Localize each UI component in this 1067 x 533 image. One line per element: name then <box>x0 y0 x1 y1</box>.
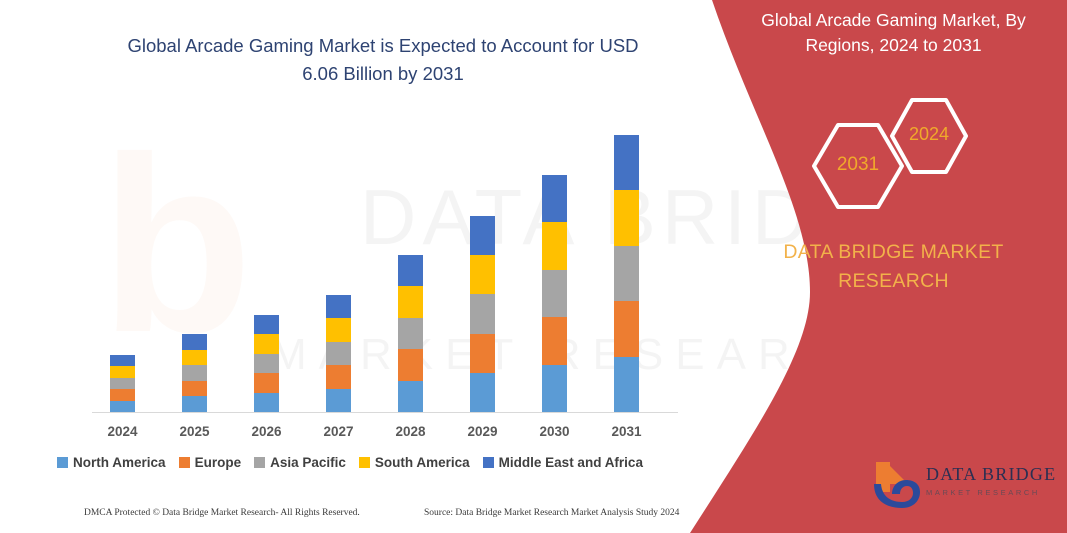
bar-segment <box>542 365 567 412</box>
bar-column <box>398 0 423 412</box>
chart-plot-area: 20242025202620272028202920302031 North A… <box>0 0 700 460</box>
legend-swatch <box>179 457 190 468</box>
legend-item[interactable]: South America <box>359 455 470 470</box>
x-axis-labels: 20242025202620272028202920302031 <box>0 424 700 446</box>
bar-group <box>0 0 700 412</box>
bar-segment <box>614 190 639 245</box>
bar-segment <box>542 175 567 222</box>
footer-source: Source: Data Bridge Market Research Mark… <box>424 508 679 518</box>
legend-label: Europe <box>195 455 242 470</box>
bar-segment <box>470 294 495 333</box>
footer-copyright: DMCA Protected © Data Bridge Market Rese… <box>84 508 360 518</box>
bar-segment <box>614 246 639 301</box>
x-axis-label: 2031 <box>597 424 657 439</box>
legend-item[interactable]: Asia Pacific <box>254 455 346 470</box>
bar-column <box>470 0 495 412</box>
bar-segment <box>182 334 207 350</box>
x-axis-label: 2027 <box>309 424 369 439</box>
bar-segment <box>254 354 279 373</box>
legend-swatch <box>359 457 370 468</box>
legend-label: South America <box>375 455 470 470</box>
bar-segment <box>254 393 279 412</box>
bar-segment <box>326 365 351 388</box>
bar-segment <box>614 301 639 356</box>
bar-segment <box>110 378 135 389</box>
bar-column <box>614 0 639 412</box>
x-axis-label: 2030 <box>525 424 585 439</box>
bar-segment <box>110 401 135 412</box>
legend-item[interactable]: Europe <box>179 455 242 470</box>
red-panel-background <box>660 0 1067 533</box>
legend-label: Asia Pacific <box>270 455 346 470</box>
bar-segment <box>326 318 351 341</box>
legend-swatch <box>57 457 68 468</box>
legend-swatch <box>254 457 265 468</box>
bar-segment <box>110 366 135 377</box>
bar-segment <box>470 255 495 294</box>
bar-segment <box>254 373 279 392</box>
bar-column <box>326 0 351 412</box>
bar-segment <box>470 334 495 373</box>
x-axis-label: 2029 <box>453 424 513 439</box>
bar-segment <box>542 222 567 269</box>
bar-segment <box>470 216 495 255</box>
bar-segment <box>614 135 639 190</box>
bar-column <box>542 0 567 412</box>
chart-legend: North AmericaEuropeAsia PacificSouth Ame… <box>0 455 700 470</box>
bar-segment <box>398 349 423 380</box>
bar-segment <box>110 389 135 400</box>
bar-column <box>182 0 207 412</box>
bar-segment <box>110 355 135 366</box>
legend-item[interactable]: Middle East and Africa <box>483 455 643 470</box>
x-axis-label: 2028 <box>381 424 441 439</box>
bar-segment <box>326 389 351 412</box>
bar-segment <box>182 396 207 412</box>
x-axis-label: 2024 <box>93 424 153 439</box>
bar-segment <box>542 317 567 364</box>
footer: DMCA Protected © Data Bridge Market Rese… <box>0 508 700 528</box>
bar-segment <box>182 350 207 366</box>
bar-segment <box>398 255 423 286</box>
x-axis-label: 2025 <box>165 424 225 439</box>
bar-segment <box>398 286 423 317</box>
legend-label: Middle East and Africa <box>499 455 643 470</box>
bar-segment <box>398 381 423 412</box>
bar-segment <box>398 318 423 349</box>
x-axis-label: 2026 <box>237 424 297 439</box>
bar-column <box>254 0 279 412</box>
chart-baseline <box>92 412 678 413</box>
legend-swatch <box>483 457 494 468</box>
legend-label: North America <box>73 455 166 470</box>
bar-segment <box>542 270 567 317</box>
infographic-canvas: b DATA BRIDGE MARKET RESEARCH Global Arc… <box>0 0 1067 533</box>
bar-segment <box>182 365 207 381</box>
bar-segment <box>326 342 351 365</box>
bar-column <box>110 0 135 412</box>
bar-segment <box>614 357 639 412</box>
bar-segment <box>254 334 279 353</box>
legend-item[interactable]: North America <box>57 455 166 470</box>
bar-segment <box>254 315 279 334</box>
bar-segment <box>470 373 495 412</box>
bar-segment <box>326 295 351 318</box>
bar-segment <box>182 381 207 397</box>
